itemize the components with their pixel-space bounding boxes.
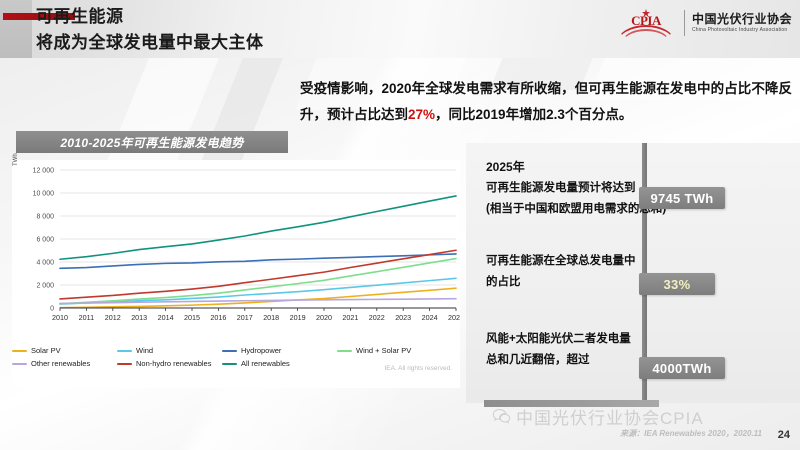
cpia-logo: CPIA 中国光伏行业协会 China Photovoltaic Industr… bbox=[615, 8, 792, 38]
legend-item-other-renewables[interactable]: Other renewables bbox=[12, 357, 117, 370]
x-tick-label: 2023 bbox=[395, 313, 411, 322]
x-tick-label: 2024 bbox=[422, 313, 438, 322]
legend-item-non-hydro-renewables[interactable]: Non-hydro renewables bbox=[117, 357, 222, 370]
highlight-2-line-1: 可再生能源在全球总发电量中 bbox=[486, 251, 796, 272]
legend-swatch-solar-pv bbox=[12, 350, 27, 352]
legend-item-all-renewables[interactable]: All renewables bbox=[222, 357, 337, 370]
chart-y-tick-labels: 02 0004 0006 0008 00010 00012 000 bbox=[33, 168, 55, 313]
highlight-item-2: 可再生能源在全球总发电量中 的占比 33% bbox=[486, 251, 796, 293]
watermark-text: 中国光伏行业协会CPIA bbox=[516, 404, 704, 429]
legend-label-non-hydro-renewables: Non-hydro renewables bbox=[136, 359, 211, 368]
slide-canvas: 可再生能源 将成为全球发电量中最大主体 CPIA 中国光伏行业协会 China … bbox=[0, 0, 800, 450]
legend-swatch-all-renewables bbox=[222, 363, 237, 365]
legend-swatch-hydropower bbox=[222, 350, 237, 352]
legend-label-wind: Wind bbox=[136, 346, 153, 355]
lead-highlight-percent: 27% bbox=[408, 107, 435, 122]
x-tick-label: 2015 bbox=[184, 313, 200, 322]
series-line-solar-pv bbox=[60, 288, 456, 307]
x-tick-label: 2016 bbox=[210, 313, 226, 322]
highlight-3-line-1: 风能+太阳能光伏二者发电量 bbox=[486, 329, 796, 350]
cpia-logo-mark-icon: CPIA bbox=[615, 8, 677, 38]
highlight-item-1: 2025年 可再生能源发电量预计将达到 (相当于中国和欧盟用电需求的总和) 97… bbox=[486, 157, 796, 220]
x-tick-label: 2014 bbox=[158, 313, 174, 322]
x-tick-label: 2018 bbox=[263, 313, 279, 322]
series-line-hydropower bbox=[60, 254, 456, 268]
legend-item-wind[interactable]: Wind bbox=[117, 344, 222, 357]
highlight-3-badge: 4000TWh bbox=[639, 357, 725, 379]
legend-label-wind-solar-pv: Wind + Solar PV bbox=[356, 346, 411, 355]
wechat-watermark: 中国光伏行业协会CPIA bbox=[492, 404, 704, 429]
legend-swatch-wind bbox=[117, 350, 132, 352]
chart-x-axis bbox=[60, 308, 456, 311]
highlight-2-badge: 33% bbox=[639, 273, 715, 295]
x-tick-label: 2017 bbox=[237, 313, 253, 322]
lead-paragraph: 受疫情影响，2020年全球发电需求有所收缩，但可再生能源在发电中的占比不降反升，… bbox=[300, 76, 792, 128]
x-tick-label: 2022 bbox=[369, 313, 385, 322]
logo-divider bbox=[684, 10, 685, 36]
chart-x-tick-labels: 2010201120122013201420152016201720182019… bbox=[52, 313, 460, 322]
wechat-icon bbox=[492, 407, 511, 426]
chart-plot-area: 02 0004 0006 0008 00010 00012 000 201020… bbox=[12, 160, 460, 325]
legend-swatch-other-renewables bbox=[12, 363, 27, 365]
y-tick-label: 2 000 bbox=[36, 283, 54, 290]
x-tick-label: 2020 bbox=[316, 313, 332, 322]
x-tick-label: 2011 bbox=[79, 313, 94, 322]
highlight-1-badge: 9745 TWh bbox=[639, 187, 725, 209]
y-tick-label: 10 000 bbox=[33, 191, 55, 198]
highlights-panel: 2025年 可再生能源发电量预计将达到 (相当于中国和欧盟用电需求的总和) 97… bbox=[466, 143, 800, 403]
legend-spacer bbox=[337, 357, 452, 370]
legend-label-hydropower: Hydropower bbox=[241, 346, 281, 355]
logo-name-en: China Photovoltaic Industry Association bbox=[692, 26, 792, 34]
legend-item-solar-pv[interactable]: Solar PV bbox=[12, 344, 117, 357]
x-tick-label: 2021 bbox=[342, 313, 358, 322]
y-tick-label: 12 000 bbox=[33, 168, 55, 175]
series-line-non-hydro-renewables bbox=[60, 250, 456, 299]
legend-label-other-renewables: Other renewables bbox=[31, 359, 90, 368]
legend-label-solar-pv: Solar PV bbox=[31, 346, 61, 355]
x-tick-label: 2013 bbox=[131, 313, 147, 322]
legend-swatch-wind-solar-pv bbox=[337, 350, 352, 352]
chart-title-text: 2010-2025年可再生能源发电趋势 bbox=[60, 134, 243, 151]
header-gray-block bbox=[0, 0, 32, 58]
legend-swatch-non-hydro-renewables bbox=[117, 363, 132, 365]
page-title: 可再生能源 将成为全球发电量中最大主体 bbox=[36, 4, 264, 56]
x-tick-label: 2010 bbox=[52, 313, 68, 322]
chart-svg: 02 0004 0006 0008 00010 00012 000 201020… bbox=[12, 160, 460, 325]
legend-item-wind-solar-pv[interactable]: Wind + Solar PV bbox=[337, 344, 452, 357]
y-tick-label: 4 000 bbox=[36, 260, 54, 267]
x-tick-label: 2019 bbox=[290, 313, 306, 322]
y-tick-label: 8 000 bbox=[36, 214, 54, 221]
x-tick-label: 2025 bbox=[448, 313, 460, 322]
chart-title-banner: 2010-2025年可再生能源发电趋势 bbox=[16, 131, 288, 153]
chart-legend: Solar PVWindHydropowerWind + Solar PVOth… bbox=[12, 344, 452, 370]
x-tick-label: 2012 bbox=[105, 313, 121, 322]
legend-label-all-renewables: All renewables bbox=[241, 359, 290, 368]
title-line-2: 将成为全球发电量中最大主体 bbox=[36, 30, 264, 56]
highlight-item-3: 风能+太阳能光伏二者发电量 总和几近翻倍，超过 4000TWh bbox=[486, 329, 796, 371]
source-citation: 来源：IEA Renewables 2020，2020.11 bbox=[620, 428, 762, 439]
title-line-1: 可再生能源 bbox=[36, 4, 264, 30]
lead-part-2: ，同比2019年增加2.3个百分点。 bbox=[435, 107, 632, 122]
chart-gridlines bbox=[60, 170, 456, 308]
legend-item-hydropower[interactable]: Hydropower bbox=[222, 344, 337, 357]
page-number: 24 bbox=[778, 429, 790, 441]
chart-series-lines bbox=[60, 196, 456, 308]
y-tick-label: 6 000 bbox=[36, 237, 54, 244]
highlight-1-heading: 2025年 bbox=[486, 157, 796, 178]
logo-name-block: 中国光伏行业协会 China Photovoltaic Industry Ass… bbox=[692, 12, 792, 34]
logo-name-cn: 中国光伏行业协会 bbox=[692, 12, 792, 26]
series-line-all-renewables bbox=[60, 196, 456, 259]
y-tick-label: 0 bbox=[50, 306, 54, 313]
